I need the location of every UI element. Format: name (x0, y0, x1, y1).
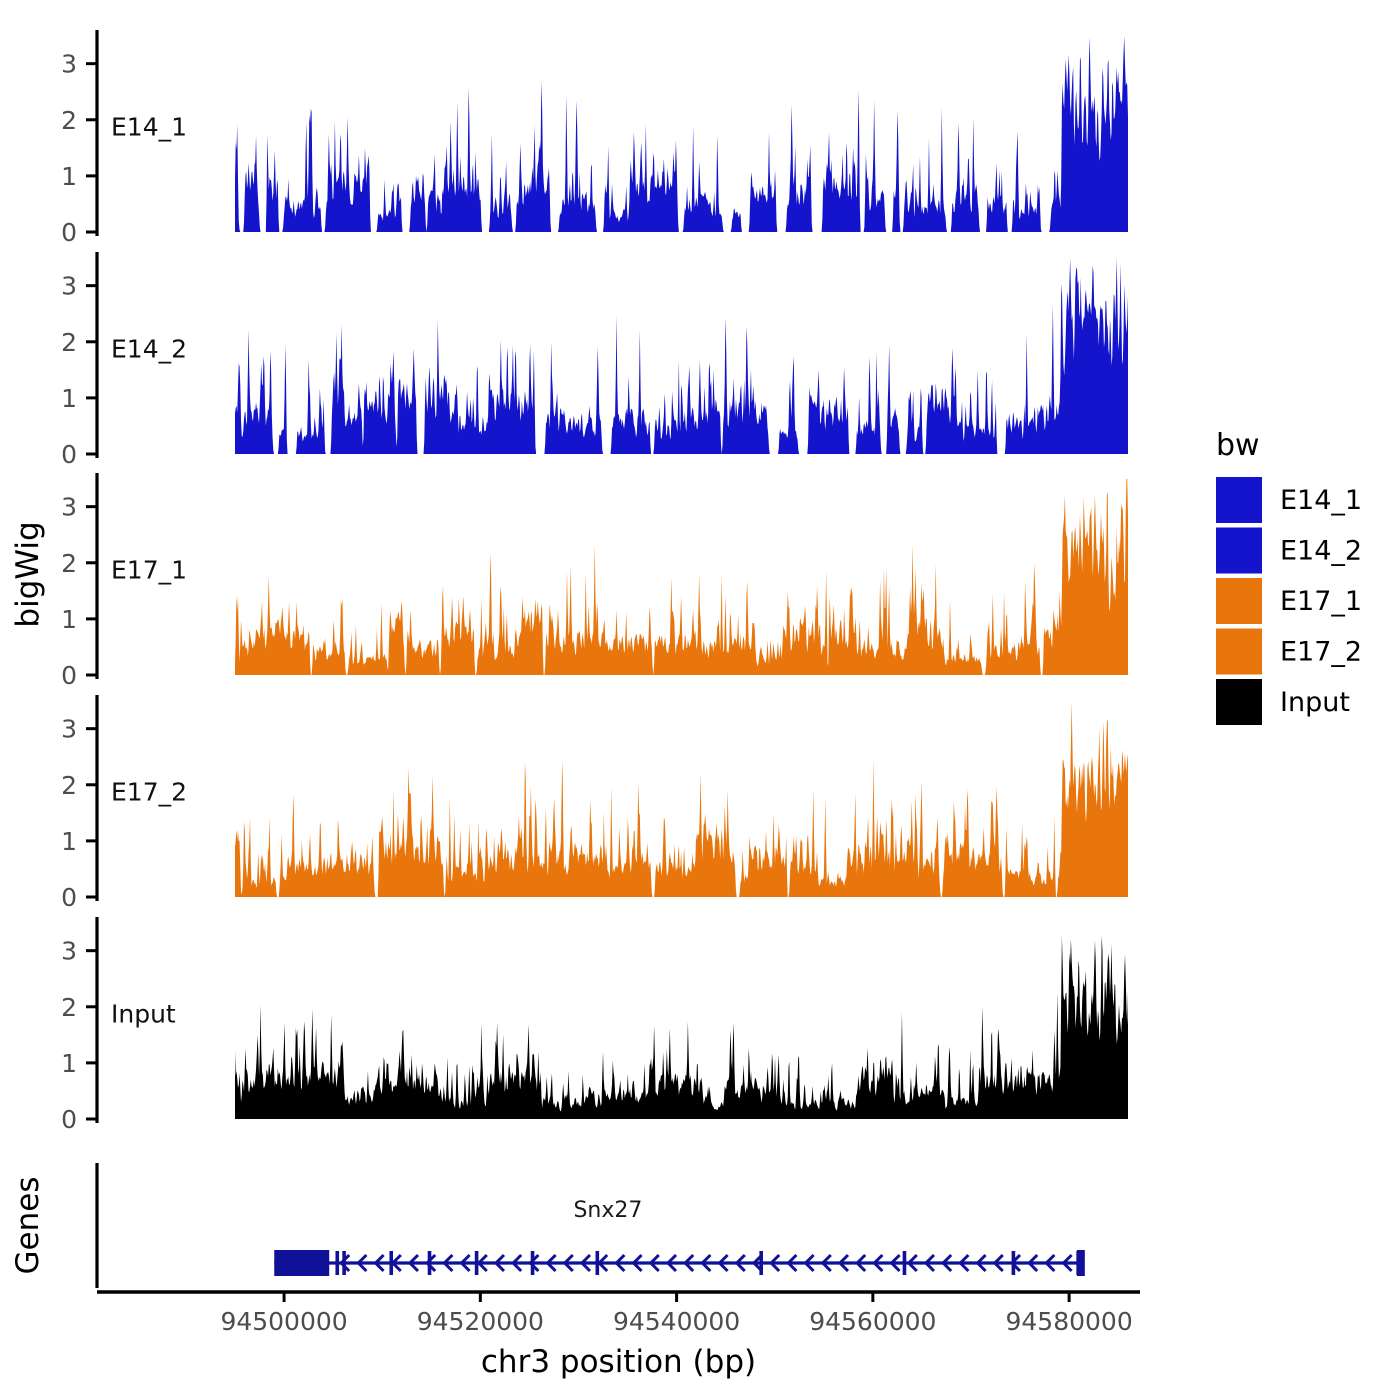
legend-swatch[interactable] (1216, 629, 1262, 675)
y-tick-label: 3 (61, 937, 77, 966)
coverage-area-E14_2 (235, 258, 1128, 454)
y-tick-label: 3 (61, 715, 77, 744)
track-name-label: E17_1 (111, 555, 187, 584)
legend-item-E14_1[interactable]: E14_1 (1216, 477, 1362, 523)
track-panel-E17_1: 0123E17_1 (61, 473, 1128, 690)
x-tick-label: 94580000 (1005, 1307, 1132, 1336)
coverage-area-Input (235, 935, 1128, 1119)
y-tick-label: 2 (61, 993, 77, 1022)
y-tick-label: 0 (61, 1105, 77, 1134)
genome-browser-figure: 0123E14_10123E14_20123E17_10123E17_20123… (0, 0, 1400, 1400)
y-tick-label: 1 (61, 384, 77, 413)
track-panel-E14_1: 0123E14_1 (61, 30, 1128, 247)
x-tick-label: 94540000 (613, 1307, 740, 1336)
track-panel-E17_2: 0123E17_2 (61, 695, 1128, 912)
y-tick-label: 2 (61, 106, 77, 135)
track-name-label: E14_1 (111, 112, 187, 141)
figure-container: 0123E14_10123E14_20123E17_10123E17_20123… (0, 0, 1400, 1400)
x-axis-title: chr3 position (bp) (481, 1344, 756, 1380)
gene-exon-block (274, 1250, 329, 1276)
x-tick-label: 94560000 (809, 1307, 936, 1336)
gene-exon-mark (903, 1251, 907, 1275)
legend-item-E17_1[interactable]: E17_1 (1216, 578, 1362, 624)
y-tick-label: 0 (61, 661, 77, 690)
legend-label: Input (1280, 687, 1350, 718)
y-tick-label: 2 (61, 328, 77, 357)
x-tick-label: 94500000 (220, 1307, 347, 1336)
x-tick-label: 94520000 (417, 1307, 544, 1336)
legend-swatch[interactable] (1216, 679, 1262, 725)
legend-title: bw (1216, 428, 1260, 463)
y-tick-label: 1 (61, 162, 77, 191)
legend-label: E17_1 (1280, 586, 1362, 617)
genes-axis-title: Genes (10, 1177, 46, 1275)
x-axis: 9450000094520000945400009456000094580000… (97, 1292, 1140, 1380)
y-tick-label: 3 (61, 50, 77, 79)
coverage-area-E17_2 (235, 701, 1128, 897)
y-axis-title: bigWig (10, 521, 46, 627)
legend-item-E14_2[interactable]: E14_2 (1216, 528, 1362, 574)
y-tick-label: 1 (61, 1049, 77, 1078)
track-panel-E14_2: 0123E14_2 (61, 252, 1128, 469)
gene-name-label: Snx27 (573, 1198, 642, 1223)
gene-end-block (1077, 1250, 1085, 1276)
legend-swatch[interactable] (1216, 528, 1262, 574)
gene-model-Snx27[interactable]: Snx27 (274, 1198, 1085, 1276)
legend-label: E14_1 (1280, 485, 1362, 516)
coverage-area-E14_1 (235, 36, 1128, 232)
legend-item-E17_2[interactable]: E17_2 (1216, 629, 1362, 675)
y-tick-label: 1 (61, 827, 77, 856)
genes-panel: GenesSnx27 (10, 1163, 1085, 1288)
gene-exon-mark (335, 1251, 339, 1275)
y-tick-label: 0 (61, 218, 77, 247)
y-tick-label: 3 (61, 272, 77, 301)
track-panel-Input: 0123Input (61, 917, 1128, 1134)
track-name-label: Input (111, 999, 176, 1028)
y-tick-label: 0 (61, 883, 77, 912)
track-name-label: E17_2 (111, 777, 187, 806)
coverage-area-E17_1 (235, 479, 1128, 675)
legend-swatch[interactable] (1216, 578, 1262, 624)
y-tick-label: 1 (61, 605, 77, 634)
y-tick-label: 2 (61, 549, 77, 578)
legend-label: E17_2 (1280, 637, 1362, 668)
legend-label: E14_2 (1280, 536, 1362, 567)
legend: bwE14_1E14_2E17_1E17_2Input (1216, 428, 1362, 725)
y-tick-label: 3 (61, 493, 77, 522)
track-name-label: E14_2 (111, 334, 187, 363)
legend-swatch[interactable] (1216, 477, 1262, 523)
legend-item-Input[interactable]: Input (1216, 679, 1350, 725)
y-tick-label: 0 (61, 440, 77, 469)
y-tick-label: 2 (61, 771, 77, 800)
